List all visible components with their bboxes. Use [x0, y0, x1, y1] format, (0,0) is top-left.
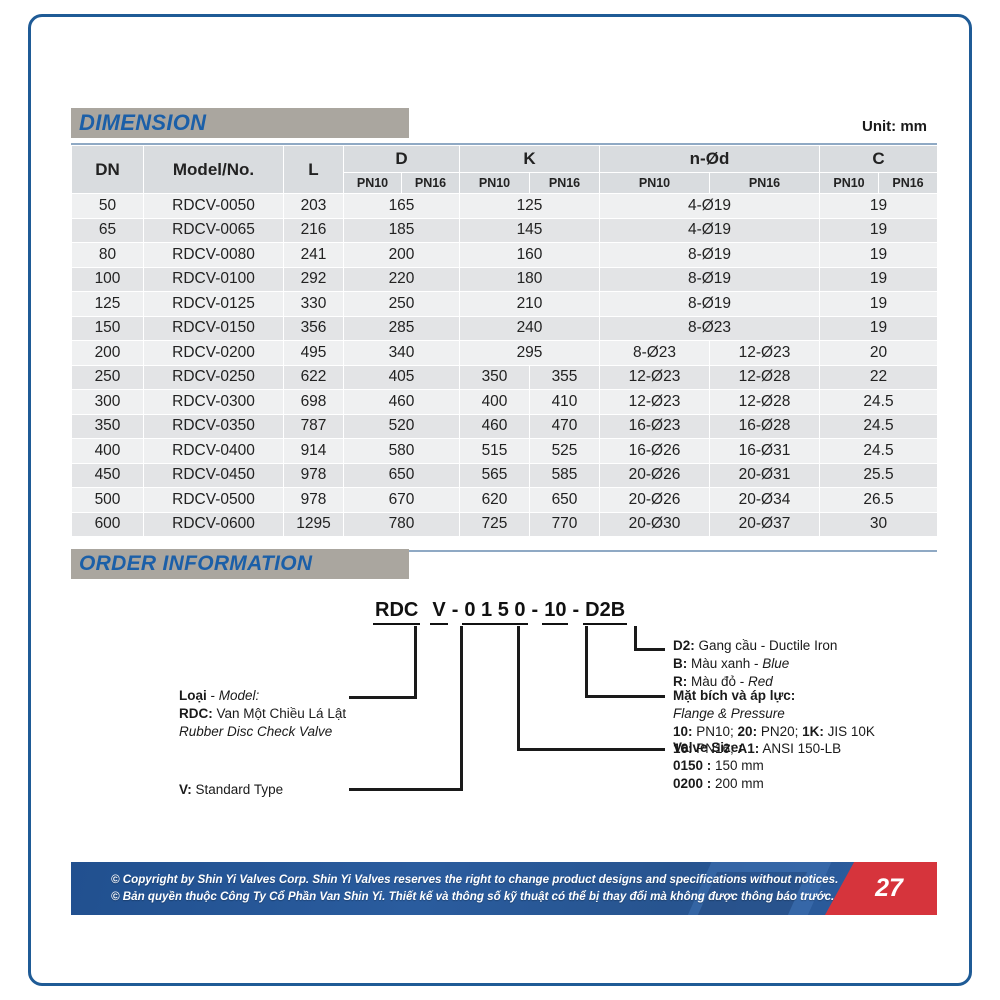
cell-nod-pn10: 12-Ø23: [600, 365, 710, 390]
cell-d: 200: [344, 243, 460, 268]
table-row: 50RDCV-00502031651254-Ø1919: [72, 194, 938, 219]
cell-c: 19: [820, 316, 938, 341]
cell-nod-pn16: 16-Ø31: [710, 439, 820, 464]
cell-nod: 8-Ø19: [600, 267, 820, 292]
cell-l: 495: [284, 341, 344, 366]
cell-d: 780: [344, 512, 460, 537]
cell-nod: 8-Ø19: [600, 292, 820, 317]
cell-model: RDCV-0500: [144, 488, 284, 513]
col-nod-pn16: PN16: [710, 173, 820, 194]
annotation-flange-10-code: 10:: [673, 724, 693, 739]
annotation-size-title: Valve Size:: [673, 740, 743, 755]
annotation-type-text: Standard Type: [192, 782, 283, 797]
table-row: 200RDCV-02004953402958-Ø2312-Ø2320: [72, 341, 938, 366]
cell-dn: 50: [72, 194, 144, 219]
cell-c: 19: [820, 194, 938, 219]
cell-k-pn10: 515: [460, 439, 530, 464]
annotation-material-b-vi: Màu xanh -: [687, 656, 762, 671]
annotation-flange-10-text: PN10;: [693, 724, 738, 739]
page-number: 27: [875, 874, 903, 903]
annotation-material-b-code: B:: [673, 656, 687, 671]
cell-c: 19: [820, 218, 938, 243]
cell-dn: 250: [72, 365, 144, 390]
leader-line-material-horizontal: [634, 648, 665, 651]
table-row: 250RDCV-025062240535035512-Ø2312-Ø2822: [72, 365, 938, 390]
cell-k-pn10: 350: [460, 365, 530, 390]
leader-line-v-horizontal: [349, 788, 463, 791]
code-segment-rdc: RDC: [373, 599, 420, 625]
table-row: 500RDCV-050097867062065020-Ø2620-Ø3426.5: [72, 488, 938, 513]
cell-model: RDCV-0300: [144, 390, 284, 415]
annotation-model: Loại - Model: RDC: Van Một Chiều Lá Lật …: [179, 687, 346, 740]
table-row: 350RDCV-035078752046047016-Ø2316-Ø2824.5: [72, 414, 938, 439]
product-code: RDCV-0 1 5 0-10-D2B: [373, 599, 627, 625]
cell-k: 145: [460, 218, 600, 243]
cell-k-pn10: 400: [460, 390, 530, 415]
cell-d: 340: [344, 341, 460, 366]
order-section-header: ORDER INFORMATION: [71, 549, 409, 579]
cell-nod-pn16: 16-Ø28: [710, 414, 820, 439]
annotation-flange-20-text: PN20;: [757, 724, 802, 739]
col-d: D: [344, 146, 460, 173]
table-row: 450RDCV-045097865056558520-Ø2620-Ø3125.5: [72, 463, 938, 488]
annotation-flange-20-code: 20:: [738, 724, 758, 739]
cell-c: 24.5: [820, 439, 938, 464]
cell-d: 220: [344, 267, 460, 292]
order-code-diagram: RDCV-0 1 5 0-10-D2B Loại - Model: RDC: V…: [33, 579, 967, 864]
cell-l: 203: [284, 194, 344, 219]
cell-dn: 65: [72, 218, 144, 243]
cell-k: 125: [460, 194, 600, 219]
code-segment-pressure: 10: [542, 599, 568, 625]
cell-k-pn10: 460: [460, 414, 530, 439]
cell-model: RDCV-0065: [144, 218, 284, 243]
annotation-size-0150-code: 0150 :: [673, 758, 711, 773]
cell-k: 160: [460, 243, 600, 268]
annotation-material: D2: Gang cầu - Ductile Iron B: Màu xanh …: [673, 637, 837, 690]
cell-model: RDCV-0600: [144, 512, 284, 537]
cell-dn: 600: [72, 512, 144, 537]
cell-dn: 100: [72, 267, 144, 292]
cell-model: RDCV-0400: [144, 439, 284, 464]
cell-l: 292: [284, 267, 344, 292]
cell-nod-pn16: 12-Ø28: [710, 365, 820, 390]
annotation-material-b-en: Blue: [762, 656, 789, 671]
code-segment-v: V: [430, 599, 447, 625]
leader-line-rdc-vertical: [414, 626, 417, 699]
annotation-model-en: Rubber Disc Check Valve: [179, 724, 332, 739]
cell-d: 185: [344, 218, 460, 243]
annotation-type-code: V:: [179, 782, 192, 797]
cell-l: 241: [284, 243, 344, 268]
annotation-flange-title-en: Flange & Pressure: [673, 706, 785, 721]
table-head-row-group: DN Model/No. L D K n-Ød C: [72, 146, 938, 173]
table-row: 150RDCV-01503562852408-Ø2319: [72, 316, 938, 341]
cell-nod-pn10: 16-Ø26: [600, 439, 710, 464]
col-d-pn16: PN16: [402, 173, 460, 194]
cell-l: 622: [284, 365, 344, 390]
cell-d: 405: [344, 365, 460, 390]
unit-label: Unit: mm: [862, 118, 927, 135]
cell-nod: 4-Ø19: [600, 218, 820, 243]
copyright-text: © Copyright by Shin Yi Valves Corp. Shin…: [111, 871, 838, 906]
annotation-model-label-en: Model:: [219, 688, 260, 703]
cell-dn: 150: [72, 316, 144, 341]
annotation-material-d2-code: D2:: [673, 638, 695, 653]
cell-k-pn16: 770: [530, 512, 600, 537]
col-k-pn10: PN10: [460, 173, 530, 194]
cell-k-pn10: 725: [460, 512, 530, 537]
cell-nod-pn10: 20-Ø26: [600, 463, 710, 488]
cell-l: 356: [284, 316, 344, 341]
table-row: 65RDCV-00652161851454-Ø1919: [72, 218, 938, 243]
cell-dn: 400: [72, 439, 144, 464]
cell-nod-pn10: 20-Ø30: [600, 512, 710, 537]
col-k-pn16: PN16: [530, 173, 600, 194]
col-c: C: [820, 146, 938, 173]
cell-c: 25.5: [820, 463, 938, 488]
table-row: 300RDCV-030069846040041012-Ø2312-Ø2824.5: [72, 390, 938, 415]
copyright-en: © Copyright by Shin Yi Valves Corp. Shin…: [111, 871, 838, 888]
cell-k-pn16: 585: [530, 463, 600, 488]
cell-dn: 200: [72, 341, 144, 366]
cell-d: 520: [344, 414, 460, 439]
annotation-model-sep: -: [207, 688, 219, 703]
col-model: Model/No.: [144, 146, 284, 194]
cell-dn: 450: [72, 463, 144, 488]
cell-model: RDCV-0250: [144, 365, 284, 390]
col-nod: n-Ød: [600, 146, 820, 173]
leader-line-pressure-horizontal: [585, 695, 665, 698]
annotation-material-d2-text: Gang cầu - Ductile Iron: [695, 638, 838, 653]
page-footer: © Copyright by Shin Yi Valves Corp. Shin…: [71, 862, 937, 915]
leader-line-v-vertical: [460, 626, 463, 791]
dimension-section-header: DIMENSION: [71, 108, 409, 138]
annotation-size-0200-code: 0200 :: [673, 776, 711, 791]
cell-k-pn16: 525: [530, 439, 600, 464]
cell-model: RDCV-0150: [144, 316, 284, 341]
cell-model: RDCV-0050: [144, 194, 284, 219]
col-l: L: [284, 146, 344, 194]
col-c-pn16: PN16: [879, 173, 938, 194]
cell-d: 650: [344, 463, 460, 488]
cell-k-pn16: 410: [530, 390, 600, 415]
cell-dn: 80: [72, 243, 144, 268]
cell-nod: 8-Ø23: [600, 316, 820, 341]
cell-c: 24.5: [820, 390, 938, 415]
cell-k-pn16: 355: [530, 365, 600, 390]
cell-model: RDCV-0350: [144, 414, 284, 439]
cell-nod-pn10: 20-Ø26: [600, 488, 710, 513]
cell-d: 285: [344, 316, 460, 341]
cell-dn: 125: [72, 292, 144, 317]
cell-nod-pn16: 12-Ø23: [710, 341, 820, 366]
cell-c: 19: [820, 292, 938, 317]
annotation-flange-a1-text: ANSI 150-LB: [759, 741, 841, 756]
order-title: ORDER INFORMATION: [79, 552, 312, 576]
cell-d: 670: [344, 488, 460, 513]
cell-nod: 8-Ø19: [600, 243, 820, 268]
cell-k-pn10: 565: [460, 463, 530, 488]
col-k: K: [460, 146, 600, 173]
annotation-model-code: RDC:: [179, 706, 213, 721]
leader-line-pressure-vertical: [585, 626, 588, 698]
cell-model: RDCV-0080: [144, 243, 284, 268]
leader-line-rdc-horizontal: [349, 696, 417, 699]
cell-nod-pn16: 12-Ø28: [710, 390, 820, 415]
cell-model: RDCV-0450: [144, 463, 284, 488]
cell-l: 914: [284, 439, 344, 464]
cell-nod-pn16: 20-Ø34: [710, 488, 820, 513]
cell-k: 180: [460, 267, 600, 292]
cell-l: 978: [284, 463, 344, 488]
cell-d: 580: [344, 439, 460, 464]
cell-c: 30: [820, 512, 938, 537]
cell-l: 1295: [284, 512, 344, 537]
annotation-flange-1k-code: 1K:: [802, 724, 824, 739]
cell-k: 210: [460, 292, 600, 317]
cell-dn: 350: [72, 414, 144, 439]
cell-c: 22: [820, 365, 938, 390]
annotation-size-0200-text: 200 mm: [711, 776, 764, 791]
code-dash-1: -: [448, 599, 463, 622]
cell-d: 250: [344, 292, 460, 317]
col-c-pn10: PN10: [820, 173, 879, 194]
table-row: 125RDCV-01253302502108-Ø1919: [72, 292, 938, 317]
annotation-flange-1k-text: JIS 10K: [824, 724, 875, 739]
table-head: DN Model/No. L D K n-Ød C PN10 PN16 PN10…: [72, 146, 938, 194]
annotation-size-0150-text: 150 mm: [711, 758, 764, 773]
dimension-table: DN Model/No. L D K n-Ød C PN10 PN16 PN10…: [71, 145, 938, 537]
datasheet-sheet: DIMENSION Unit: mm DN Model/No. L D K n-…: [33, 19, 967, 981]
cell-l: 216: [284, 218, 344, 243]
table-row: 80RDCV-00802412001608-Ø1919: [72, 243, 938, 268]
cell-nod-pn10: 16-Ø23: [600, 414, 710, 439]
leader-line-size-vertical: [517, 626, 520, 751]
cell-l: 978: [284, 488, 344, 513]
table-row: 600RDCV-0600129578072577020-Ø3020-Ø3730: [72, 512, 938, 537]
code-segment-size: 0 1 5 0: [462, 599, 527, 625]
code-segment-material: D2B: [583, 599, 627, 625]
annotation-flange-title-vi: Mặt bích và áp lực:: [673, 688, 795, 703]
cell-k-pn16: 470: [530, 414, 600, 439]
cell-nod-pn16: 20-Ø37: [710, 512, 820, 537]
annotation-model-vi: Van Một Chiều Lá Lật: [213, 706, 346, 721]
cell-l: 787: [284, 414, 344, 439]
cell-c: 24.5: [820, 414, 938, 439]
col-dn: DN: [72, 146, 144, 194]
annotation-type: V: Standard Type: [179, 781, 283, 799]
col-nod-pn10: PN10: [600, 173, 710, 194]
cell-model: RDCV-0125: [144, 292, 284, 317]
cell-nod-pn16: 20-Ø31: [710, 463, 820, 488]
table-body: 50RDCV-00502031651254-Ø191965RDCV-006521…: [72, 194, 938, 537]
cell-k: 240: [460, 316, 600, 341]
col-d-pn10: PN10: [344, 173, 402, 194]
cell-model: RDCV-0100: [144, 267, 284, 292]
annotation-model-label: Loại: [179, 688, 207, 703]
cell-c: 19: [820, 267, 938, 292]
cell-k-pn10: 620: [460, 488, 530, 513]
cell-d: 460: [344, 390, 460, 415]
annotation-size: Valve Size: 0150 : 150 mm 0200 : 200 mm: [673, 739, 764, 792]
cell-l: 698: [284, 390, 344, 415]
table-row: 100RDCV-01002922201808-Ø1919: [72, 267, 938, 292]
cell-c: 26.5: [820, 488, 938, 513]
cell-d: 165: [344, 194, 460, 219]
copyright-vi: © Bản quyền thuộc Công Ty Cổ Phần Van Sh…: [111, 888, 838, 905]
code-dash-3: -: [568, 599, 583, 622]
cell-model: RDCV-0200: [144, 341, 284, 366]
cell-c: 20: [820, 341, 938, 366]
cell-c: 19: [820, 243, 938, 268]
cell-nod-pn10: 12-Ø23: [600, 390, 710, 415]
page-number-badge: 27: [825, 862, 937, 915]
cell-l: 330: [284, 292, 344, 317]
cell-k-pn16: 650: [530, 488, 600, 513]
cell-k: 295: [460, 341, 600, 366]
cell-dn: 300: [72, 390, 144, 415]
code-dash-2: -: [528, 599, 543, 622]
leader-line-size-horizontal: [517, 748, 665, 751]
table-row: 400RDCV-040091458051552516-Ø2616-Ø3124.5: [72, 439, 938, 464]
cell-nod-pn10: 8-Ø23: [600, 341, 710, 366]
dimension-title: DIMENSION: [79, 110, 206, 136]
cell-dn: 500: [72, 488, 144, 513]
cell-nod: 4-Ø19: [600, 194, 820, 219]
